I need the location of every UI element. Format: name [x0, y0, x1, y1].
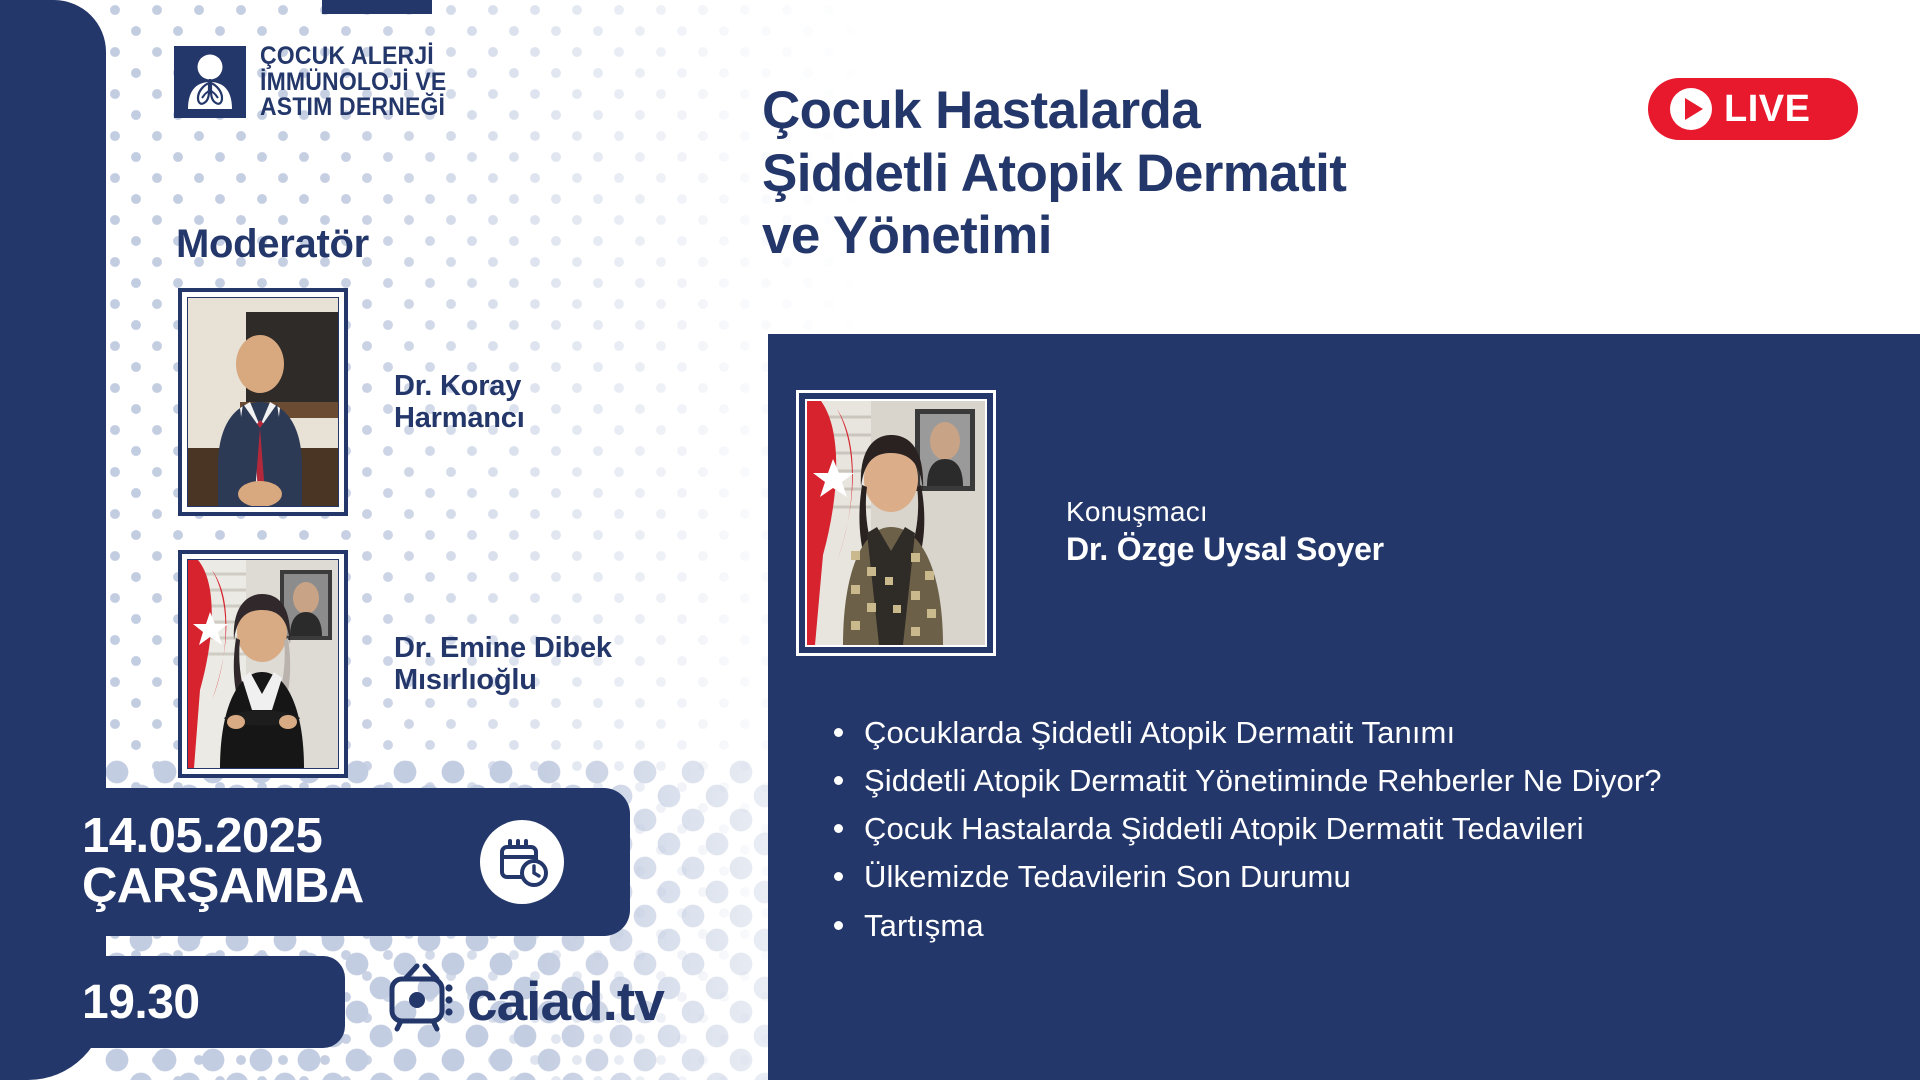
speaker-role: Konuşmacı — [1066, 494, 1384, 529]
moderator-entry-1: Dr. Koray Harmancı — [178, 288, 525, 516]
site-url[interactable]: caiad.tv — [467, 969, 664, 1033]
page-title: Çocuk Hastalarda Şiddetli Atopik Dermati… — [762, 80, 1346, 268]
portrait-ozge-uysal-soyer — [805, 399, 987, 647]
top-navy-tab — [322, 0, 432, 14]
speaker-info: Konuşmacı Dr. Özge Uysal Soyer — [1066, 494, 1384, 569]
tv-icon — [385, 963, 459, 1038]
speaker-photo-frame — [796, 390, 996, 656]
moderator-name-2-line2: Mısırlıoğlu — [394, 664, 612, 696]
moderator-name-1-line1: Dr. Koray — [394, 370, 525, 402]
moderator-name-1-line2: Harmancı — [394, 402, 525, 434]
title-line-1: Çocuk Hastalarda — [762, 80, 1346, 143]
portrait-emine-dibek-misirlioglu — [187, 559, 339, 769]
list-item: Şiddetli Atopik Dermatit Yönetiminde Reh… — [864, 760, 1920, 802]
event-date: 14.05.2025 — [82, 812, 364, 862]
date-block: 14.05.2025 ÇARŞAMBA — [0, 788, 630, 936]
calendar-clock-icon — [480, 820, 564, 904]
logo-line-3: ASTIM DERNEĞİ — [260, 95, 446, 121]
webinar-poster: ÇOCUK ALERJİ İMMÜNOLOJİ VE ASTIM DERNEĞİ… — [0, 0, 1920, 1080]
topic-list: Çocuklarda Şiddetli Atopik Dermatit Tanı… — [816, 712, 1920, 953]
moderator-photo-frame-1 — [178, 288, 348, 516]
event-time: 19.30 — [82, 975, 200, 1030]
moderator-name-1: Dr. Koray Harmancı — [394, 370, 525, 435]
title-line-3: ve Yönetimi — [762, 205, 1346, 268]
time-block: 19.30 — [0, 956, 345, 1048]
moderator-name-2: Dr. Emine Dibek Mısırlıoğlu — [394, 632, 612, 697]
play-icon — [1670, 88, 1712, 130]
logo-wordmark: ÇOCUK ALERJİ İMMÜNOLOJİ VE ASTIM DERNEĞİ — [260, 44, 463, 121]
moderator-entry-2: Dr. Emine Dibek Mısırlıoğlu — [178, 550, 612, 778]
date-text: 14.05.2025 ÇARŞAMBA — [82, 812, 364, 912]
logo-line-2: İMMÜNOLOJİ VE — [260, 70, 446, 96]
logo-line-1: ÇOCUK ALERJİ — [260, 44, 446, 70]
moderator-heading: Moderatör — [176, 222, 369, 267]
moderator-photo-frame-2 — [178, 550, 348, 778]
lungs-torso-icon — [174, 46, 246, 118]
channel-row[interactable]: caiad.tv — [385, 963, 664, 1038]
content-panel: Konuşmacı Dr. Özge Uysal Soyer Çocuklard… — [768, 334, 1920, 1080]
portrait-koray-harmanci — [187, 297, 339, 507]
live-label: LIVE — [1724, 88, 1810, 131]
list-item: Çocuk Hastalarda Şiddetli Atopik Dermati… — [864, 808, 1920, 850]
moderator-name-2-line1: Dr. Emine Dibek — [394, 632, 612, 664]
list-item: Çocuklarda Şiddetli Atopik Dermatit Tanı… — [864, 712, 1920, 754]
speaker-name: Dr. Özge Uysal Soyer — [1066, 529, 1384, 569]
organization-logo: ÇOCUK ALERJİ İMMÜNOLOJİ VE ASTIM DERNEĞİ — [174, 44, 463, 121]
live-badge[interactable]: LIVE — [1648, 78, 1858, 140]
event-day: ÇARŞAMBA — [82, 862, 364, 912]
list-item: Tartışma — [864, 905, 1920, 947]
list-item: Ülkemizde Tedavilerin Son Durumu — [864, 856, 1920, 898]
title-line-2: Şiddetli Atopik Dermatit — [762, 143, 1346, 206]
